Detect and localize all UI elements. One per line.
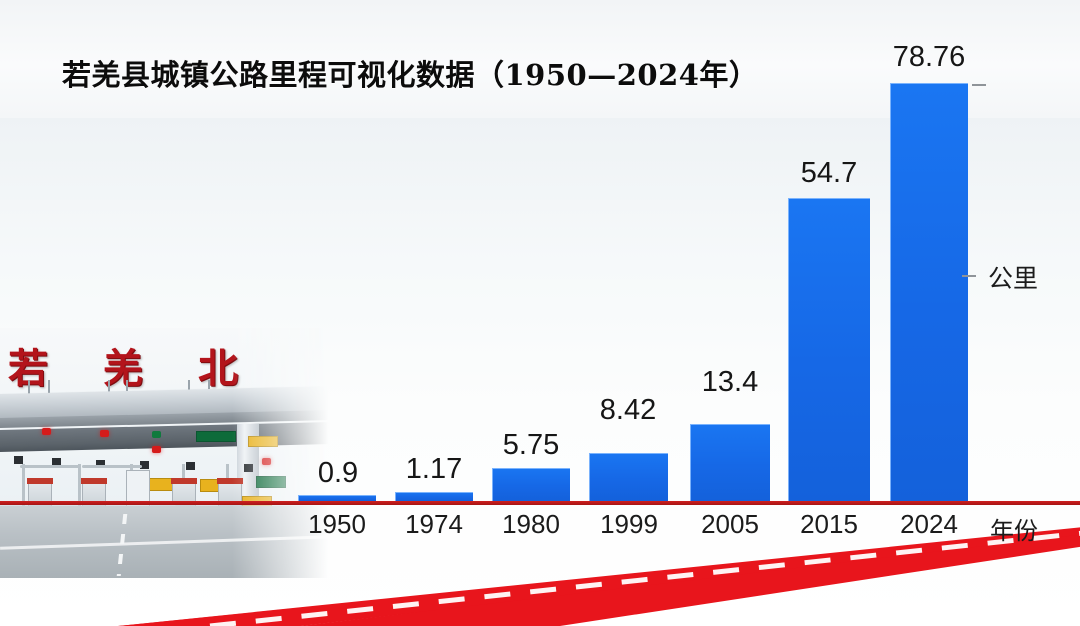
bar-1974[interactable] bbox=[395, 492, 473, 501]
bar-value-1980: 5.75 bbox=[481, 429, 581, 462]
bar-value-2024: 78.76 bbox=[879, 41, 979, 74]
x-tick-2005: 2005 bbox=[680, 509, 780, 540]
bar-1950[interactable] bbox=[298, 495, 376, 501]
y-axis-label: 公里 bbox=[988, 259, 1038, 295]
bar-value-2015: 54.7 bbox=[779, 157, 879, 190]
bar-value-1950: 0.9 bbox=[288, 457, 388, 490]
x-tick-1950: 1950 bbox=[287, 509, 387, 540]
bar-2005[interactable] bbox=[690, 424, 770, 501]
infographic-canvas: 若羌县城镇公路里程可视化数据（1950—2024年） 若 羌 北 bbox=[0, 0, 1080, 626]
x-tick-1980: 1980 bbox=[481, 509, 581, 540]
bar-2024[interactable] bbox=[890, 83, 968, 501]
bar-chart: 0.9 1.17 5.75 8.42 13.4 54.7 78.76 1950 … bbox=[0, 0, 1080, 626]
y-tick-unit bbox=[962, 275, 976, 277]
bar-value-1974: 1.17 bbox=[384, 453, 484, 486]
x-tick-1999: 1999 bbox=[579, 509, 679, 540]
x-axis-label: 年份 bbox=[990, 511, 1038, 546]
x-tick-2015: 2015 bbox=[779, 509, 879, 540]
bar-1980[interactable] bbox=[492, 468, 570, 501]
x-tick-1974: 1974 bbox=[384, 509, 484, 540]
y-tick-top bbox=[972, 84, 986, 86]
bar-value-1999: 8.42 bbox=[578, 394, 678, 427]
bar-2015[interactable] bbox=[788, 198, 870, 501]
x-tick-2024: 2024 bbox=[879, 509, 979, 540]
bar-1999[interactable] bbox=[589, 453, 668, 501]
bar-value-2005: 13.4 bbox=[680, 366, 780, 399]
x-axis-line bbox=[0, 501, 1080, 505]
